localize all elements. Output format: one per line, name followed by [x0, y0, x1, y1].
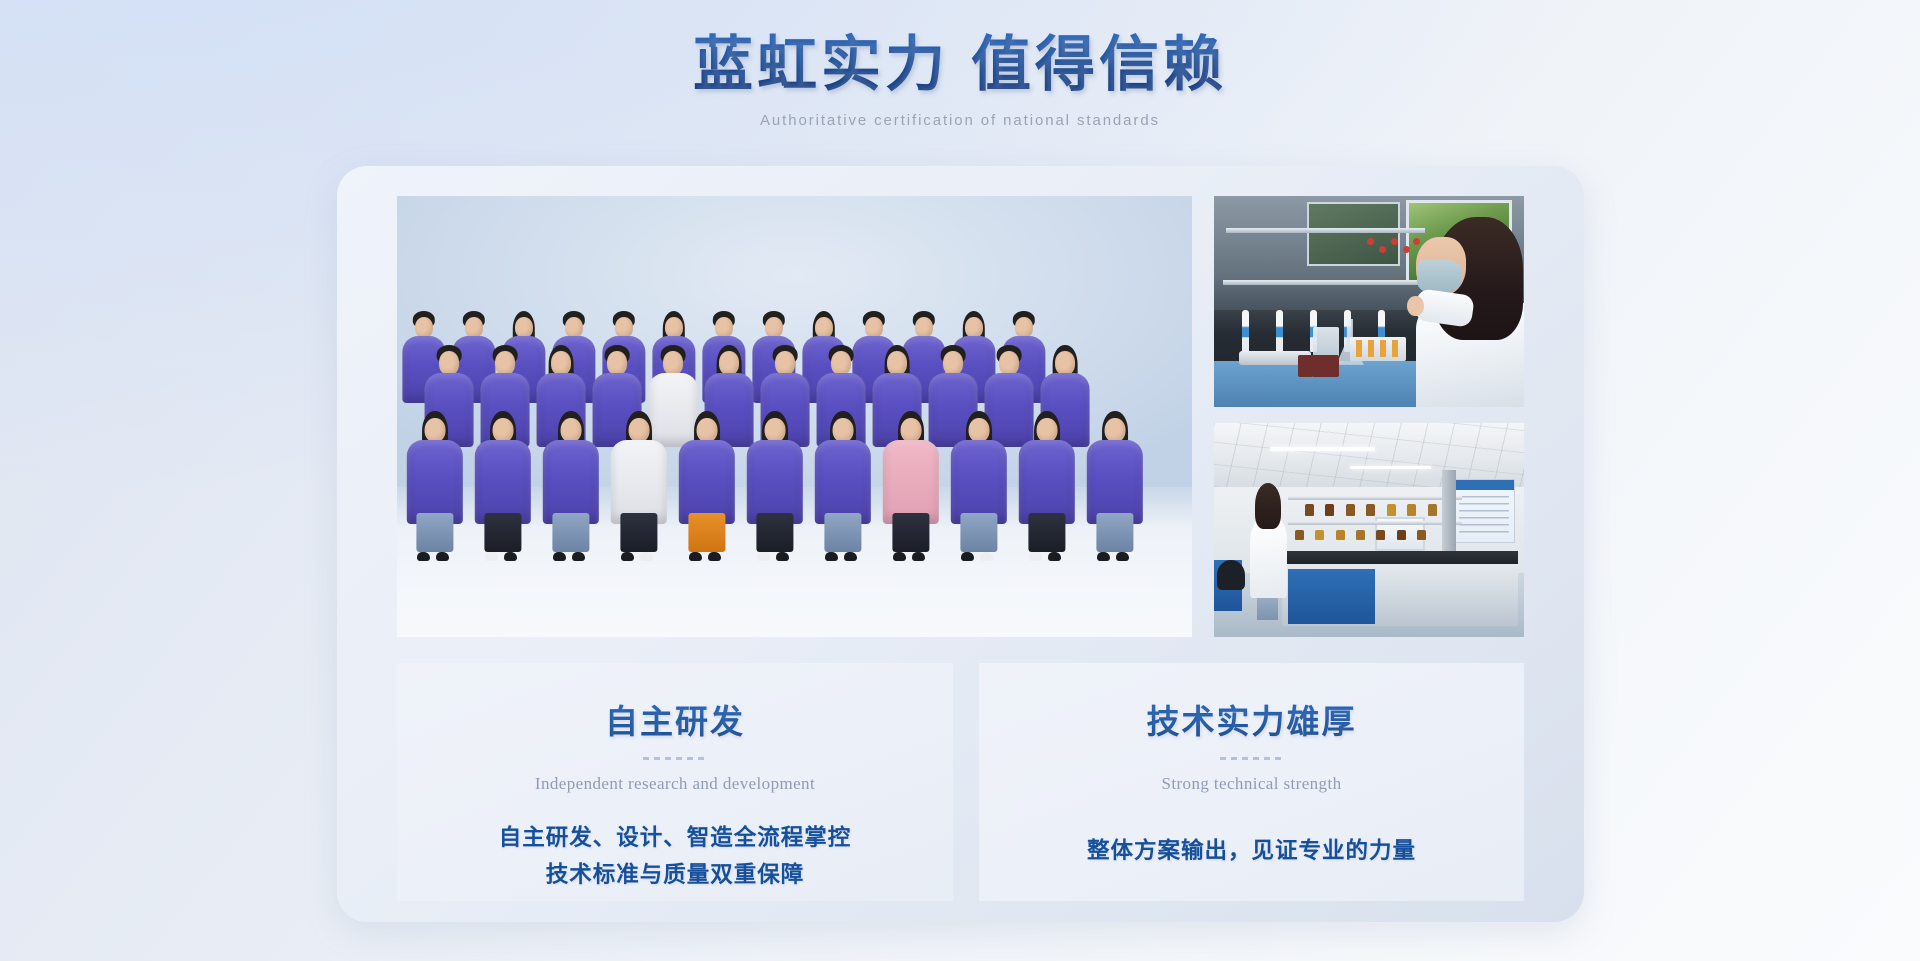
- lab-room-blue-cabinet: [1288, 569, 1375, 625]
- team-member-shoe: [961, 552, 974, 561]
- team-member: [745, 411, 805, 561]
- team-member-shoe: [825, 552, 838, 561]
- lab-bench-pipette: [1242, 310, 1249, 352]
- feature-card-body-line1: 整体方案输出，见证专业的力量: [979, 832, 1524, 869]
- team-member-head: [1015, 317, 1033, 338]
- team-member-head: [1055, 351, 1075, 375]
- team-member-shoe: [1097, 552, 1110, 561]
- team-member-head: [665, 317, 683, 338]
- team-member-uniform: [883, 440, 939, 524]
- lab-room-bottle: [1336, 530, 1345, 540]
- lab-room-bottle: [1428, 504, 1437, 516]
- team-member-shoe: [1116, 552, 1129, 561]
- team-member: [813, 411, 873, 561]
- lab-room-technician: [1248, 483, 1288, 620]
- team-member-uniform: [611, 440, 667, 524]
- feature-card-body: 自主研发、设计、智造全流程掌控 技术标准与质量双重保障: [397, 819, 953, 894]
- feature-card-title: 技术实力雄厚: [979, 695, 1524, 743]
- team-member-head: [495, 351, 515, 375]
- team-member-head: [551, 351, 571, 375]
- team-member-shoe: [912, 552, 925, 561]
- team-member-head: [833, 418, 854, 443]
- team-member-head: [465, 317, 483, 338]
- team-member-uniform: [1019, 440, 1075, 524]
- lab-technician-mask: [1417, 260, 1462, 294]
- feature-card-body-line2: 技术标准与质量双重保障: [397, 856, 953, 893]
- team-member-uniform: [747, 440, 803, 524]
- team-member-shoe: [640, 552, 653, 561]
- team-member-head: [831, 351, 851, 375]
- lab-technician: [1406, 213, 1524, 407]
- lab-room-bottle: [1315, 530, 1324, 540]
- feature-card-english: Strong technical strength: [979, 774, 1524, 794]
- team-member-head: [561, 418, 582, 443]
- photo-gallery: [397, 196, 1524, 637]
- lab-room-bottle: [1356, 530, 1365, 540]
- team-member-shoe: [417, 552, 430, 561]
- promo-page: 蓝虹实力值得信赖 Authoritative certification of …: [0, 0, 1920, 961]
- lab-room-bottle: [1417, 530, 1426, 540]
- team-member-head: [697, 418, 718, 443]
- page-title-part1: 蓝虹实力: [693, 32, 949, 98]
- team-member: [405, 411, 465, 561]
- team-member-head: [663, 351, 683, 375]
- team-member-head: [515, 317, 533, 338]
- team-member-head: [887, 351, 907, 375]
- lab-room-bottle: [1387, 504, 1396, 516]
- lab-room-benchtop: [1282, 551, 1518, 564]
- lab-room-ceiling: [1214, 423, 1524, 487]
- lab-bench-pipette: [1276, 310, 1283, 352]
- team-member-head: [943, 351, 963, 375]
- team-member-legs: [620, 513, 657, 552]
- team-member-head: [493, 418, 514, 443]
- lab-room-technician-hair: [1255, 483, 1282, 530]
- team-member-legs: [484, 513, 521, 552]
- team-member-uniform: [679, 440, 735, 524]
- team-member-legs: [416, 513, 453, 552]
- team-member-shoe: [844, 552, 857, 561]
- lab-room-bottle: [1366, 504, 1375, 516]
- team-member-shoe: [572, 552, 585, 561]
- team-member-legs: [1096, 513, 1133, 552]
- team-member-shoe: [504, 552, 517, 561]
- team-member-head: [1105, 418, 1126, 443]
- team-member-head: [415, 317, 433, 338]
- feature-card-english: Independent research and development: [397, 774, 953, 794]
- page-header: 蓝虹实力值得信赖 Authoritative certification of …: [0, 30, 1920, 129]
- team-member-head: [439, 351, 459, 375]
- team-member-uniform: [815, 440, 871, 524]
- lab-room-shelf-upper: [1288, 496, 1462, 500]
- team-member-head: [765, 317, 783, 338]
- team-member-head: [765, 418, 786, 443]
- page-subtitle: Authoritative certification of national …: [0, 112, 1920, 129]
- lab-bench-photo[interactable]: [1214, 196, 1524, 407]
- team-member-head: [1037, 418, 1058, 443]
- team-member-head: [607, 351, 627, 375]
- team-member-head: [629, 418, 650, 443]
- team-member-legs: [1028, 513, 1065, 552]
- lab-room-bottle: [1397, 530, 1406, 540]
- lab-room-stool: [1217, 560, 1245, 590]
- team-member-shoe: [708, 552, 721, 561]
- team-member-shoe: [485, 552, 498, 561]
- team-member-shoe: [980, 552, 993, 561]
- team-member-shoe: [689, 552, 702, 561]
- lab-room-bottle: [1407, 504, 1416, 516]
- team-member-uniform: [543, 440, 599, 524]
- team-member-uniform: [1087, 440, 1143, 524]
- lab-room-technician-coat: [1250, 519, 1287, 598]
- lab-bench-sample-tray: [1350, 337, 1406, 361]
- lab-bench-reagent-bottles: [1298, 353, 1338, 377]
- team-member: [949, 411, 1009, 561]
- team-member-head: [999, 351, 1019, 375]
- team-member-head: [965, 317, 983, 338]
- lab-technician-hand: [1407, 296, 1423, 316]
- team-member-legs: [688, 513, 725, 552]
- team-member-head: [865, 317, 883, 338]
- team-member-head: [719, 351, 739, 375]
- team-member-head: [565, 317, 583, 338]
- team-member-uniform: [951, 440, 1007, 524]
- lab-bench-upper-shelf: [1226, 228, 1424, 233]
- team-member: [677, 411, 737, 561]
- team-member-legs: [756, 513, 793, 552]
- team-member: [1085, 411, 1145, 561]
- team-member-head: [615, 317, 633, 338]
- team-member-shoe: [436, 552, 449, 561]
- lab-room-ceiling-light: [1270, 447, 1375, 451]
- lab-room-ceiling-light: [1350, 466, 1431, 469]
- team-photo-people: [399, 315, 1190, 597]
- team-member-head: [715, 317, 733, 338]
- team-member-head: [969, 418, 990, 443]
- team-member-head: [815, 317, 833, 338]
- page-title-part2: 值得信赖: [971, 32, 1227, 98]
- feature-cards: 自主研发 Independent research and developmen…: [397, 663, 1524, 901]
- lab-room-bottle: [1305, 504, 1314, 516]
- team-member: [609, 411, 669, 561]
- lab-room-photo[interactable]: [1214, 423, 1524, 637]
- team-member: [881, 411, 941, 561]
- team-member-head: [901, 418, 922, 443]
- feature-card-independent-rd[interactable]: 自主研发 Independent research and developmen…: [397, 663, 953, 901]
- team-member-legs: [824, 513, 861, 552]
- team-member-legs: [552, 513, 589, 552]
- team-member: [1017, 411, 1077, 561]
- team-member-legs: [892, 513, 929, 552]
- page-title: 蓝虹实力值得信赖: [693, 30, 1227, 101]
- team-member-head: [915, 317, 933, 338]
- team-member-shoe: [1048, 552, 1061, 561]
- lab-room-shelf-lower: [1288, 521, 1462, 525]
- team-member: [473, 411, 533, 561]
- dotted-divider-icon: [643, 757, 707, 760]
- team-member-shoe: [757, 552, 770, 561]
- team-member-shoe: [893, 552, 906, 561]
- team-member-shoe: [1029, 552, 1042, 561]
- feature-card-technical-strength[interactable]: 技术实力雄厚 Strong technical strength 整体方案输出，…: [979, 663, 1524, 901]
- feature-card-title: 自主研发: [397, 695, 953, 743]
- team-member-head: [425, 418, 446, 443]
- team-member-head: [775, 351, 795, 375]
- team-member-shoe: [776, 552, 789, 561]
- team-member-legs: [960, 513, 997, 552]
- team-member-shoe: [553, 552, 566, 561]
- lab-room-safety-poster: [1453, 479, 1515, 543]
- feature-card-body-line1: 自主研发、设计、智造全流程掌控: [397, 819, 953, 856]
- feature-card-body: 整体方案输出，见证专业的力量: [979, 832, 1524, 869]
- lab-room-bottle: [1346, 504, 1355, 516]
- team-member-uniform: [407, 440, 463, 524]
- dotted-divider-icon: [1220, 757, 1284, 760]
- lab-room-bottle: [1325, 504, 1334, 516]
- team-member-uniform: [475, 440, 531, 524]
- lab-room-bottle: [1295, 530, 1304, 540]
- content-panel: 自主研发 Independent research and developmen…: [337, 166, 1584, 922]
- team-member: [541, 411, 601, 561]
- team-photo[interactable]: [397, 196, 1192, 637]
- team-member-shoe: [621, 552, 634, 561]
- lab-room-bottle: [1376, 530, 1385, 540]
